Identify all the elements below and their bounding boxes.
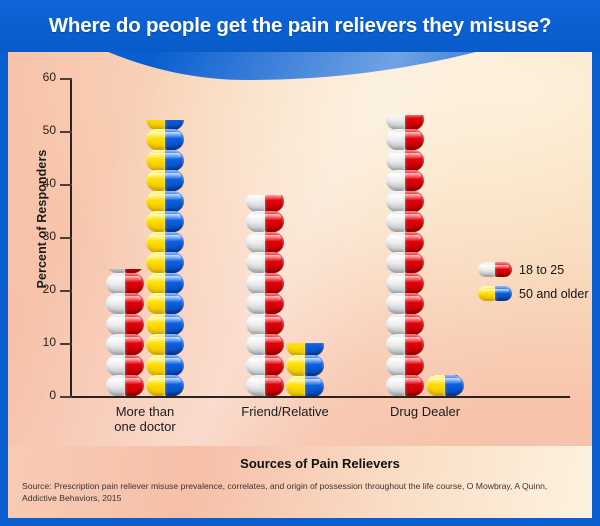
capsule-right-half: [125, 314, 144, 335]
capsule-left-half: [426, 375, 445, 396]
page-title: Where do people get the pain relievers t…: [49, 14, 551, 38]
capsule-left-half: [146, 129, 165, 150]
bar-50-and-older-more-than-one-doctor: [146, 120, 184, 396]
capsule-right-half: [125, 273, 144, 294]
capsule-right-half: [265, 252, 284, 273]
capsule-left-half: [146, 375, 165, 396]
bar-capsule-stack: [246, 195, 284, 396]
capsule-icon: [106, 314, 144, 335]
y-axis-tick: [60, 396, 72, 398]
legend-capsule-left-half: [478, 286, 495, 301]
capsule-right-half: [405, 355, 424, 376]
capsule-icon: [286, 376, 324, 397]
capsule-left-half: [106, 334, 125, 355]
y-axis-tick: [60, 78, 72, 80]
legend: 18 to 2550 and older: [478, 262, 589, 310]
x-category-label: Friend/Relative: [205, 404, 365, 419]
capsule-right-half: [265, 355, 284, 376]
capsule-left-half: [286, 376, 305, 397]
capsule-icon: [106, 355, 144, 376]
x-category-label-line: Drug Dealer: [345, 404, 505, 419]
capsule-left-half: [246, 273, 265, 294]
source-note: Source: Prescription pain reliever misus…: [22, 480, 578, 504]
legend-label: 18 to 25: [519, 263, 564, 277]
y-axis-tick: [60, 290, 72, 292]
capsule-right-half: [265, 195, 284, 212]
capsule-icon: [106, 273, 144, 294]
capsule-right-half: [405, 232, 424, 253]
capsule-left-half: [146, 334, 165, 355]
capsule-right-half: [445, 375, 464, 396]
y-axis-tick: [60, 237, 72, 239]
capsule-icon: [146, 314, 184, 335]
legend-item-50-and-older[interactable]: 50 and older: [478, 286, 589, 301]
capsule-right-half: [165, 211, 184, 232]
capsule-left-half: [386, 170, 405, 191]
bar-18-to-25-friend-relative: [246, 195, 284, 396]
capsule-right-half: [265, 334, 284, 355]
capsule-right-half: [405, 170, 424, 191]
capsule-right-half: [265, 273, 284, 294]
capsule-right-half: [265, 211, 284, 232]
capsule-left-half: [386, 115, 405, 130]
capsule-right-half: [405, 150, 424, 171]
capsule-left-half: [106, 314, 125, 335]
capsule-right-half: [165, 375, 184, 396]
capsule-left-half: [386, 129, 405, 150]
x-category-label: More thanone doctor: [65, 404, 225, 434]
capsule-right-half: [405, 334, 424, 355]
capsule-icon: [386, 273, 424, 294]
capsule-icon: [386, 252, 424, 273]
capsule-icon: [146, 252, 184, 273]
capsule-right-half: [405, 129, 424, 150]
capsule-right-half: [405, 191, 424, 212]
capsule-right-half: [405, 252, 424, 273]
capsule-left-half: [106, 293, 125, 314]
y-axis-tick-label: 60: [16, 70, 56, 84]
capsule-right-half: [165, 191, 184, 212]
y-axis-tick: [60, 131, 72, 133]
capsule-left-half: [286, 355, 305, 376]
capsule-icon: [386, 232, 424, 253]
capsule-icon: [246, 232, 284, 253]
bar-18-to-25-drug-dealer: [386, 115, 424, 396]
capsule-left-half: [386, 334, 405, 355]
capsule-right-half: [165, 129, 184, 150]
capsule-right-half: [265, 314, 284, 335]
capsule-right-half: [405, 273, 424, 294]
capsule-left-half: [146, 252, 165, 273]
capsule-icon: [386, 334, 424, 355]
x-category-label: Drug Dealer: [345, 404, 505, 419]
capsule-icon: [146, 375, 184, 396]
capsule-left-half: [246, 252, 265, 273]
bar-capsule-stack: [106, 269, 144, 396]
bar-50-and-older-friend-relative: [286, 343, 324, 396]
capsule-left-half: [146, 273, 165, 294]
capsule-icon: [246, 273, 284, 294]
capsule-right-half: [265, 375, 284, 396]
y-axis-tick-label: 20: [16, 282, 56, 296]
capsule-left-half: [386, 232, 405, 253]
chart-panel: Percent of Responders 0102030405060 More…: [8, 52, 592, 518]
capsule-left-half: [286, 343, 305, 356]
capsule-left-half: [386, 211, 405, 232]
capsule-right-half: [165, 232, 184, 253]
capsule-icon: [386, 314, 424, 335]
capsule-right-half: [165, 355, 184, 376]
capsule-left-half: [146, 314, 165, 335]
capsule-icon: [146, 293, 184, 314]
legend-capsule-icon: [478, 286, 512, 301]
capsule-icon: [146, 273, 184, 294]
capsule-right-half: [165, 293, 184, 314]
capsule-left-half: [246, 195, 265, 212]
capsule-right-half: [125, 293, 144, 314]
y-axis-tick: [60, 343, 72, 345]
capsule-icon: [386, 129, 424, 150]
capsule-icon: [246, 334, 284, 355]
capsule-left-half: [246, 314, 265, 335]
capsule-icon: [106, 334, 144, 355]
capsule-left-half: [146, 170, 165, 191]
y-axis-tick-label: 30: [16, 229, 56, 243]
capsule-left-half: [106, 375, 125, 396]
capsule-icon: [286, 343, 324, 356]
bar-capsule-stack: [146, 120, 184, 396]
capsule-icon: [246, 293, 284, 314]
capsule-icon: [246, 252, 284, 273]
legend-item-18-to-25[interactable]: 18 to 25: [478, 262, 589, 277]
capsule-left-half: [146, 211, 165, 232]
legend-capsule-left-half: [478, 262, 495, 277]
capsule-icon: [146, 150, 184, 171]
capsule-right-half: [305, 355, 324, 376]
legend-capsule-icon: [478, 262, 512, 277]
capsule-left-half: [386, 273, 405, 294]
capsule-right-half: [165, 150, 184, 171]
capsule-icon: [106, 293, 144, 314]
capsule-left-half: [386, 252, 405, 273]
capsule-left-half: [106, 355, 125, 376]
capsule-icon: [286, 355, 324, 376]
bar-capsule-stack: [386, 115, 424, 396]
y-axis-tick-label: 50: [16, 123, 56, 137]
capsule-left-half: [246, 375, 265, 396]
capsule-right-half: [165, 334, 184, 355]
capsule-icon: [106, 375, 144, 396]
capsule-left-half: [146, 191, 165, 212]
bar-18-to-25-more-than-one-doctor: [106, 269, 144, 396]
capsule-icon: [146, 129, 184, 150]
capsule-left-half: [246, 232, 265, 253]
capsule-left-half: [246, 211, 265, 232]
capsule-right-half: [125, 355, 144, 376]
capsule-left-half: [246, 334, 265, 355]
capsule-icon: [146, 355, 184, 376]
capsule-right-half: [265, 293, 284, 314]
capsule-icon: [386, 170, 424, 191]
capsule-left-half: [106, 273, 125, 294]
y-axis-tick-label: 40: [16, 176, 56, 190]
capsule-icon: [246, 375, 284, 396]
capsule-right-half: [405, 115, 424, 130]
capsule-right-half: [305, 343, 324, 356]
capsule-left-half: [246, 293, 265, 314]
capsule-icon: [426, 375, 464, 396]
capsule-right-half: [125, 334, 144, 355]
capsule-right-half: [165, 170, 184, 191]
x-category-label-line: one doctor: [65, 419, 225, 434]
capsule-right-half: [265, 232, 284, 253]
capsule-left-half: [146, 232, 165, 253]
capsule-icon: [386, 115, 424, 130]
capsule-icon: [146, 232, 184, 253]
bar-capsule-stack: [426, 375, 464, 396]
legend-label: 50 and older: [519, 287, 589, 301]
legend-capsule-right-half: [495, 262, 512, 277]
capsule-icon: [386, 211, 424, 232]
x-category-label-line: Friend/Relative: [205, 404, 365, 419]
capsule-icon: [246, 355, 284, 376]
bar-capsule-stack: [286, 343, 324, 396]
legend-capsule-right-half: [495, 286, 512, 301]
capsule-right-half: [405, 314, 424, 335]
bar-50-and-older-drug-dealer: [426, 375, 464, 396]
capsule-icon: [386, 150, 424, 171]
capsule-icon: [246, 314, 284, 335]
capsule-right-half: [125, 375, 144, 396]
capsule-left-half: [386, 293, 405, 314]
title-band: Where do people get the pain relievers t…: [0, 0, 600, 52]
y-axis-tick-label: 10: [16, 335, 56, 349]
capsule-right-half: [405, 375, 424, 396]
capsule-right-half: [405, 211, 424, 232]
capsule-icon: [386, 375, 424, 396]
capsule-left-half: [386, 314, 405, 335]
capsule-icon: [386, 293, 424, 314]
capsule-left-half: [386, 375, 405, 396]
x-axis-line: [70, 396, 570, 398]
capsule-left-half: [386, 150, 405, 171]
capsule-icon: [386, 355, 424, 376]
y-axis-tick: [60, 184, 72, 186]
capsule-right-half: [405, 293, 424, 314]
capsule-icon: [246, 211, 284, 232]
capsule-icon: [146, 334, 184, 355]
capsule-icon: [246, 195, 284, 212]
capsule-icon: [146, 170, 184, 191]
infographic-root: Where do people get the pain relievers t…: [0, 0, 600, 526]
capsule-icon: [146, 211, 184, 232]
y-axis-tick-label: 0: [16, 388, 56, 402]
capsule-right-half: [165, 252, 184, 273]
capsule-right-half: [165, 314, 184, 335]
capsule-left-half: [146, 293, 165, 314]
capsule-icon: [146, 191, 184, 212]
x-axis-title: Sources of Pain Relievers: [70, 456, 570, 471]
capsule-right-half: [305, 376, 324, 397]
x-category-label-line: More than: [65, 404, 225, 419]
capsule-left-half: [146, 355, 165, 376]
capsule-icon: [386, 191, 424, 212]
capsule-left-half: [146, 150, 165, 171]
capsule-right-half: [165, 273, 184, 294]
capsule-left-half: [246, 355, 265, 376]
capsule-left-half: [386, 191, 405, 212]
capsule-left-half: [386, 355, 405, 376]
